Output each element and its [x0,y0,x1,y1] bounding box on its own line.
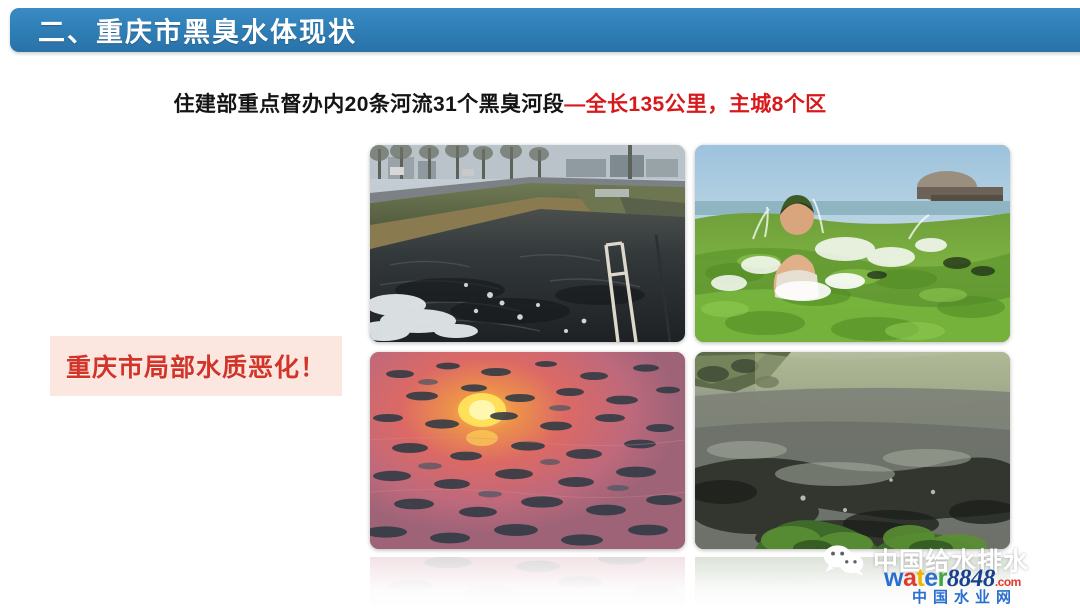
subtitle-red-segment: —全长135公里，主城8个区 [564,93,826,116]
subtitle-black-segment: 住建部重点督办内20条河流31个黑臭河段 [173,93,564,116]
slide-title-bar: 二、重庆市黑臭水体现状 [10,8,1080,52]
black-sludge-photo [695,352,1010,549]
slide-canvas: 二、重庆市黑臭水体现状 住建部重点督办内20条河流31个黑臭河段—全长135公里… [0,0,1080,608]
water-quality-callout-box: 重庆市局部水质恶化！ [50,336,342,396]
photo-grid [370,145,1010,555]
photo-reflection-left [370,557,685,605]
watermark: 中国给水排水 water8848.com 中国水业网 [822,540,1074,606]
dead-fish-sunset-photo [370,352,685,549]
polluted-river-photo [370,145,685,342]
watermark-line3-text: 中国水业网 [912,586,1017,607]
brand-letter-w: w [884,564,903,592]
callout-text: 重庆市局部水质恶化！ [66,348,326,384]
wechat-icon [822,544,866,576]
slide-title-text: 二、重庆市黑臭水体现状 [38,11,357,50]
algae-bloom-photo [695,145,1010,342]
slide-subtitle: 住建部重点督办内20条河流31个黑臭河段—全长135公里，主城8个区 [0,88,1000,118]
